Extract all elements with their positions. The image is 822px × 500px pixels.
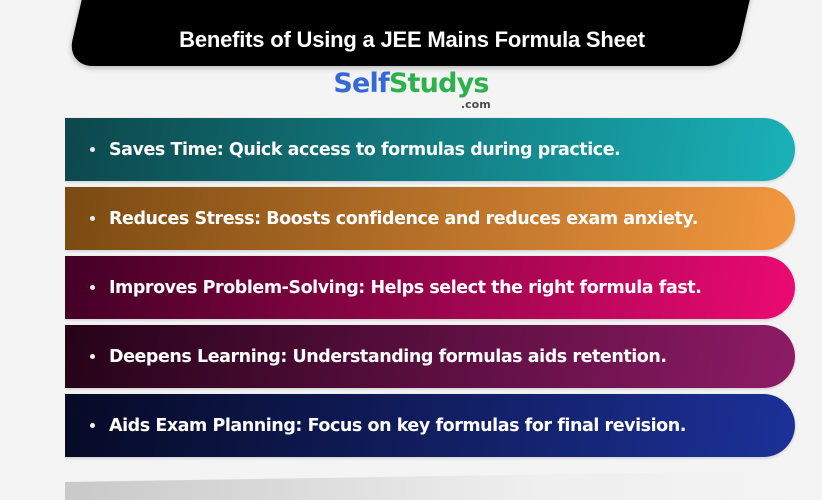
bullet-dot-icon <box>90 147 95 152</box>
list-item: Saves Time: Quick access to formulas dur… <box>65 118 795 181</box>
bullet-dot-icon <box>90 285 95 290</box>
logo-word-self: Self <box>333 68 389 99</box>
bullet-dot-icon <box>90 423 95 428</box>
logo-word-studys: Studys <box>389 68 489 99</box>
list-item: Deepens Learning: Understanding formulas… <box>65 325 795 388</box>
brand-logo: SelfStudys .com <box>0 70 822 97</box>
list-item-label: Reduces Stress: Boosts confidence and re… <box>109 209 698 229</box>
bullet-dot-icon <box>90 354 95 359</box>
list-item: Improves Problem-Solving: Helps select t… <box>65 256 795 319</box>
list-item-label: Deepens Learning: Understanding formulas… <box>109 347 667 367</box>
logo-text: SelfStudys .com <box>333 70 488 97</box>
list-item: Reduces Stress: Boosts confidence and re… <box>65 187 795 250</box>
list-item-label: Improves Problem-Solving: Helps select t… <box>109 278 701 298</box>
benefits-list: Saves Time: Quick access to formulas dur… <box>65 118 795 463</box>
bottom-accent-strip <box>65 470 822 500</box>
list-item-label: Aids Exam Planning: Focus on key formula… <box>109 416 686 436</box>
left-gutter <box>0 0 65 500</box>
bullet-dot-icon <box>90 216 95 221</box>
list-item-label: Saves Time: Quick access to formulas dur… <box>109 140 620 160</box>
list-item: Aids Exam Planning: Focus on key formula… <box>65 394 795 457</box>
slide-canvas: Benefits of Using a JEE Mains Formula Sh… <box>0 0 822 500</box>
page-title: Benefits of Using a JEE Mains Formula Sh… <box>78 0 746 66</box>
logo-dotcom-suffix: .com <box>461 99 491 110</box>
